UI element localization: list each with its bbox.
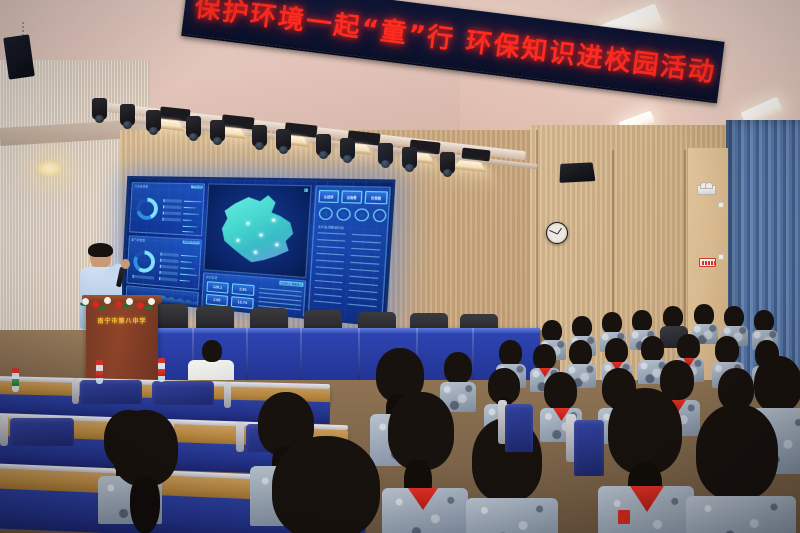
foliage: [98, 306, 107, 310]
data-table-row: [352, 241, 381, 244]
bottle-cap: [96, 360, 103, 365]
data-table-row: [314, 287, 342, 291]
panel-value-tag: 7742.08: [191, 185, 202, 188]
gauge-indicator: [336, 208, 351, 221]
flower: [148, 298, 155, 305]
status-card: 告警数: [364, 191, 388, 205]
auditorium-seat: [10, 418, 74, 446]
data-table-row: [318, 232, 346, 235]
legend-entry: [163, 211, 182, 215]
person-head: [572, 316, 592, 338]
person-ponytail: [130, 476, 160, 533]
bottle-label: [158, 369, 165, 376]
water-bottle: [96, 364, 103, 384]
person-head: [499, 340, 522, 366]
bar-row: [182, 231, 194, 233]
wall-clock-icon: [546, 222, 568, 244]
bar-row: [181, 255, 198, 258]
person-head: [677, 334, 700, 360]
moving-head-light: [120, 104, 135, 126]
bar-row: [182, 226, 197, 228]
bar-row: [183, 213, 199, 215]
bottle-cap: [12, 368, 19, 373]
audience-student-foreground: [686, 404, 796, 533]
data-table-row: [350, 269, 379, 272]
moving-head-light: [92, 98, 107, 120]
uniform-badge: [618, 510, 630, 524]
seat-frame: [224, 382, 231, 408]
data-table-row: [348, 303, 377, 307]
person-head: [444, 352, 472, 384]
person-head: [533, 344, 556, 370]
bottle-label: [12, 379, 19, 386]
gauge-indicator: [354, 208, 369, 221]
person-head: [602, 312, 622, 334]
bar-row: [184, 207, 197, 209]
data-table-row: [348, 297, 377, 301]
data-table-row: [317, 239, 345, 242]
bar-row: [180, 267, 195, 270]
status-card: 在线率: [318, 190, 339, 203]
foliage: [144, 306, 153, 310]
panel-value-tag: 30990.6m3/h: [183, 240, 200, 244]
presenter-hand: [121, 259, 130, 269]
data-table-row: [316, 253, 344, 256]
kpi-value: 13.74: [237, 300, 247, 305]
moving-head-light: [276, 129, 291, 151]
bar-row: [179, 280, 189, 282]
moving-head-light: [252, 125, 267, 147]
data-table-row: [316, 266, 344, 269]
kpi-value: 2.05: [213, 298, 220, 303]
ceiling-speaker: [559, 162, 595, 183]
person-head: [569, 340, 592, 366]
data-table-row: [314, 294, 342, 298]
bottle-cap: [158, 358, 165, 363]
legend-entry: [132, 275, 154, 280]
auditorium-seat: [152, 381, 214, 405]
legend-entry: [159, 277, 178, 282]
bar-row: [184, 201, 202, 203]
moving-head-light: [146, 110, 161, 132]
legend-entry: [160, 265, 179, 270]
tablecloth-fold: [300, 328, 302, 386]
kpi-card: 128.1: [206, 281, 228, 294]
data-table-row: [352, 234, 381, 237]
stage-spotlight: [221, 114, 254, 129]
person-head: [724, 306, 744, 328]
person-torso: [686, 496, 796, 533]
bar-row: [183, 220, 192, 222]
person-head: [388, 392, 454, 470]
person-head: [112, 410, 178, 486]
podium-label: 南宁市第八中学: [92, 316, 152, 325]
person-head: [544, 372, 577, 410]
flower: [82, 298, 89, 305]
person-head: [605, 338, 628, 364]
panel-title: 污水处理量: [134, 184, 148, 188]
flower: [104, 297, 111, 304]
water-bottle: [12, 372, 19, 392]
data-table-row: [317, 246, 345, 249]
person-head: [542, 320, 562, 342]
status-card-label: 设备数: [347, 195, 357, 200]
moving-head-light: [402, 147, 417, 169]
legend-entry: [163, 205, 182, 209]
audience-student-foreground: [598, 388, 694, 533]
fire-safety-sign: [699, 258, 716, 267]
emergency-exit-light-icon: [697, 185, 716, 195]
seat-frame: [72, 378, 79, 404]
data-table-row: [315, 273, 343, 276]
moving-head-light: [186, 116, 201, 138]
bottle-label: [96, 371, 103, 378]
moving-head-light: [440, 152, 455, 174]
auditorium-seat: [80, 380, 142, 404]
table-title: 实时监测数据列表: [318, 224, 345, 230]
kpi-card: 2.05: [206, 294, 228, 307]
head-table-edge: [150, 328, 540, 333]
data-table-row: [351, 248, 380, 251]
person-head: [715, 336, 739, 364]
status-card-label: 告警数: [371, 195, 382, 200]
map-marker: [260, 234, 262, 236]
dashboard-panel-right: 在线率 设备数 告警数 实时监测数据列表: [308, 185, 391, 325]
water-bottle: [158, 362, 165, 382]
data-table-row: [350, 262, 379, 265]
moving-head-light: [378, 143, 393, 165]
person-head: [641, 336, 664, 362]
panel-title: 实时监测: [206, 275, 217, 280]
audience-student-foreground: [382, 392, 468, 533]
map-marker: [247, 222, 249, 224]
bar-row: [181, 261, 193, 263]
legend-entry: [159, 271, 178, 276]
moving-head-light: [210, 120, 225, 142]
gauge-indicator: [373, 209, 387, 223]
person-torso: [466, 498, 558, 533]
person-head: [694, 304, 714, 326]
dashboard-panel-left-1: 污水处理量 7742.08: [129, 182, 205, 236]
data-table-row: [348, 290, 377, 294]
region-map-shape: [213, 191, 303, 272]
status-card-label: 在线率: [324, 194, 334, 199]
seat-frame: [236, 422, 244, 452]
legend-entry: [160, 252, 179, 257]
person-head: [754, 310, 774, 332]
person-head: [696, 404, 778, 500]
bar-row: [180, 274, 198, 277]
panel-title: 废气排放量: [132, 237, 146, 242]
donut-chart: [136, 197, 159, 220]
moving-head-light: [340, 138, 355, 160]
panel-tag: 监测站点 数据统计: [279, 281, 303, 287]
map-legend-tag: ●: [304, 188, 308, 191]
map-marker: [254, 251, 256, 253]
legend-entry: [162, 218, 181, 222]
status-card: 设备数: [341, 190, 363, 203]
kpi-card: 3.91: [232, 283, 255, 296]
presenter-hair: [88, 243, 113, 257]
audience-student-foreground: [272, 436, 392, 533]
person-head: [663, 306, 683, 328]
tablecloth-fold: [358, 328, 360, 386]
data-table-row: [314, 300, 342, 304]
wall-switch-plate: [718, 202, 724, 208]
auditorium-seat: [505, 404, 533, 452]
legend-entry: [160, 259, 179, 264]
kpi-value: 3.91: [239, 287, 247, 292]
person-head: [632, 310, 652, 332]
auditorium-seat: [574, 420, 604, 476]
region-map-panel: ●: [203, 183, 312, 278]
map-marker: [237, 239, 239, 241]
legend-entry: [163, 199, 182, 203]
kpi-value: 128.1: [213, 285, 223, 290]
dashboard-panel-left-2: 废气排放量 30990.6m3/h: [126, 235, 201, 290]
data-table-row: [316, 260, 344, 263]
map-marker: [276, 244, 278, 246]
flower: [115, 301, 122, 308]
data-table-row: [349, 276, 378, 280]
data-table-row: [349, 283, 378, 287]
moving-head-light: [316, 134, 331, 156]
person-head: [202, 340, 222, 362]
person-head: [272, 436, 380, 533]
wall-switch-plate: [718, 254, 724, 260]
gauge-indicator: [319, 207, 334, 220]
wall-sconce-light: [36, 160, 62, 177]
kpi-card: 13.74: [231, 296, 254, 309]
lecture-hall-scene: 保护环境一起“童”行 环保知识进校园活动 污水处理量 7742.08: [0, 0, 800, 533]
flower: [137, 302, 144, 309]
flower: [126, 298, 133, 305]
flower: [92, 301, 99, 308]
data-table-row: [315, 280, 343, 284]
tablecloth-fold: [246, 328, 248, 386]
donut-chart: [133, 250, 156, 274]
audience-student-foreground: [108, 410, 194, 533]
seat-frame: [0, 416, 8, 446]
flower-arrangement: [78, 292, 164, 314]
map-marker: [272, 219, 274, 221]
data-table-row: [351, 255, 380, 258]
